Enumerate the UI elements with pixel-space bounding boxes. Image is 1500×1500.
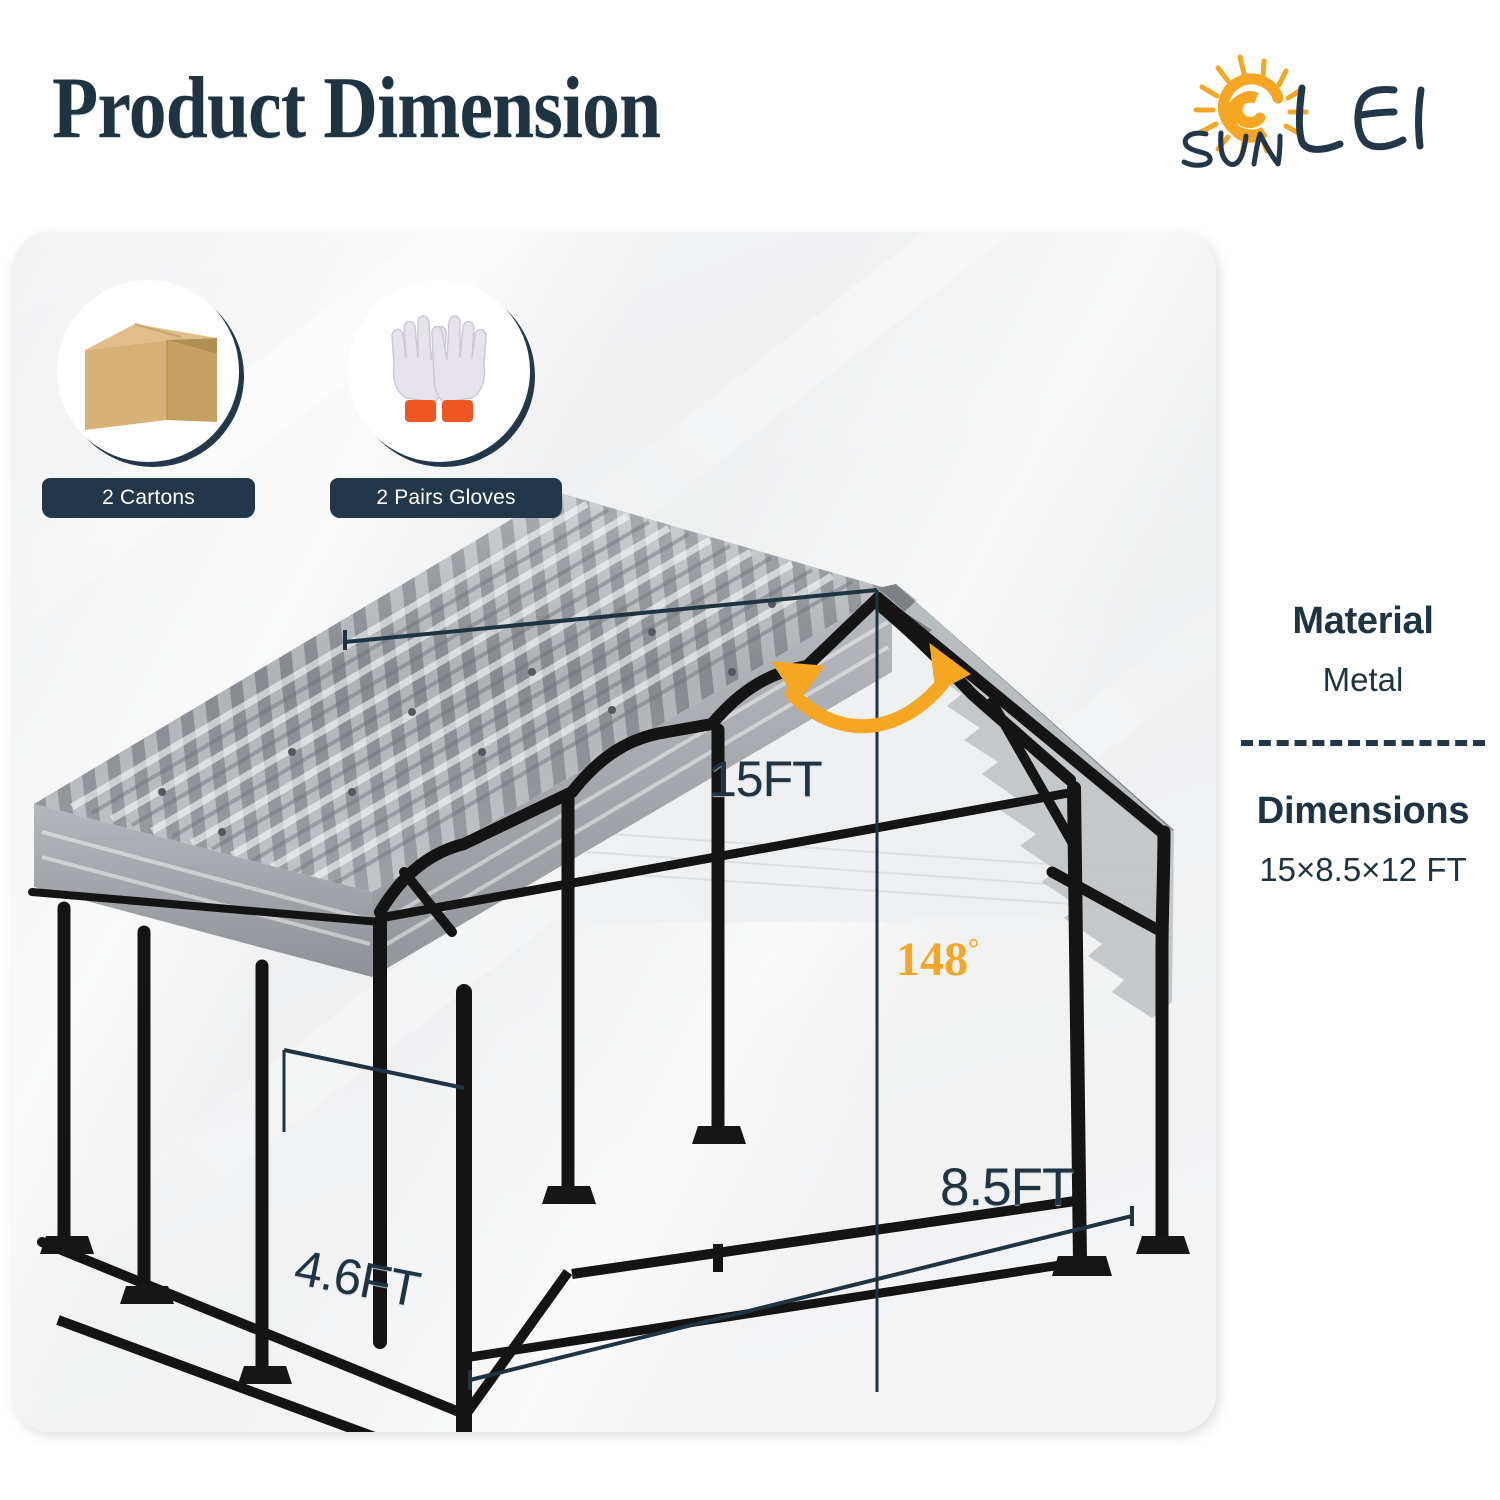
angle-label: 148°	[896, 932, 979, 987]
badge-circle-cartons	[57, 280, 239, 462]
product-image-panel: 2 Cartons 2 Pairs Gloves 15FT 8.5FT 4.6F…	[12, 232, 1216, 1432]
dimension-label-15ft: 15FT	[709, 750, 822, 808]
badge-gloves-text: 2 Pairs Gloves	[376, 486, 515, 510]
carton-box-icon	[57, 280, 239, 462]
measure-12ft	[470, 1206, 1132, 1390]
frame-post-right-rear	[1162, 832, 1164, 1242]
info-column: Material Metal Dimensions 15×8.5×12 FT	[1232, 600, 1494, 891]
work-gloves-icon	[348, 280, 530, 462]
badge-label-gloves: 2 Pairs Gloves	[330, 478, 562, 518]
page-title: Product Dimension	[52, 58, 660, 159]
material-heading: Material	[1232, 600, 1494, 643]
badge-circle-gloves	[348, 280, 530, 462]
sunlei-logo	[1168, 52, 1468, 187]
info-divider	[1241, 740, 1485, 746]
angle-unit: °	[968, 934, 979, 965]
badge-label-cartons: 2 Cartons	[42, 478, 255, 518]
dimension-label-85ft: 8.5FT	[940, 1157, 1073, 1218]
angle-value: 148	[896, 933, 968, 986]
dimensions-heading: Dimensions	[1232, 790, 1494, 833]
material-value: Metal	[1232, 659, 1494, 700]
badge-cartons-text: 2 Cartons	[102, 486, 195, 510]
logo-graphic	[1168, 52, 1468, 187]
dimensions-value: 15×8.5×12 FT	[1232, 849, 1494, 890]
frame-post-right-front	[1074, 788, 1080, 1262]
sun-spiral-icon	[1223, 79, 1278, 137]
frame-rail-rear	[464, 1262, 1080, 1358]
logo-sun-text	[1184, 133, 1280, 165]
logo-lei-text	[1299, 88, 1421, 149]
